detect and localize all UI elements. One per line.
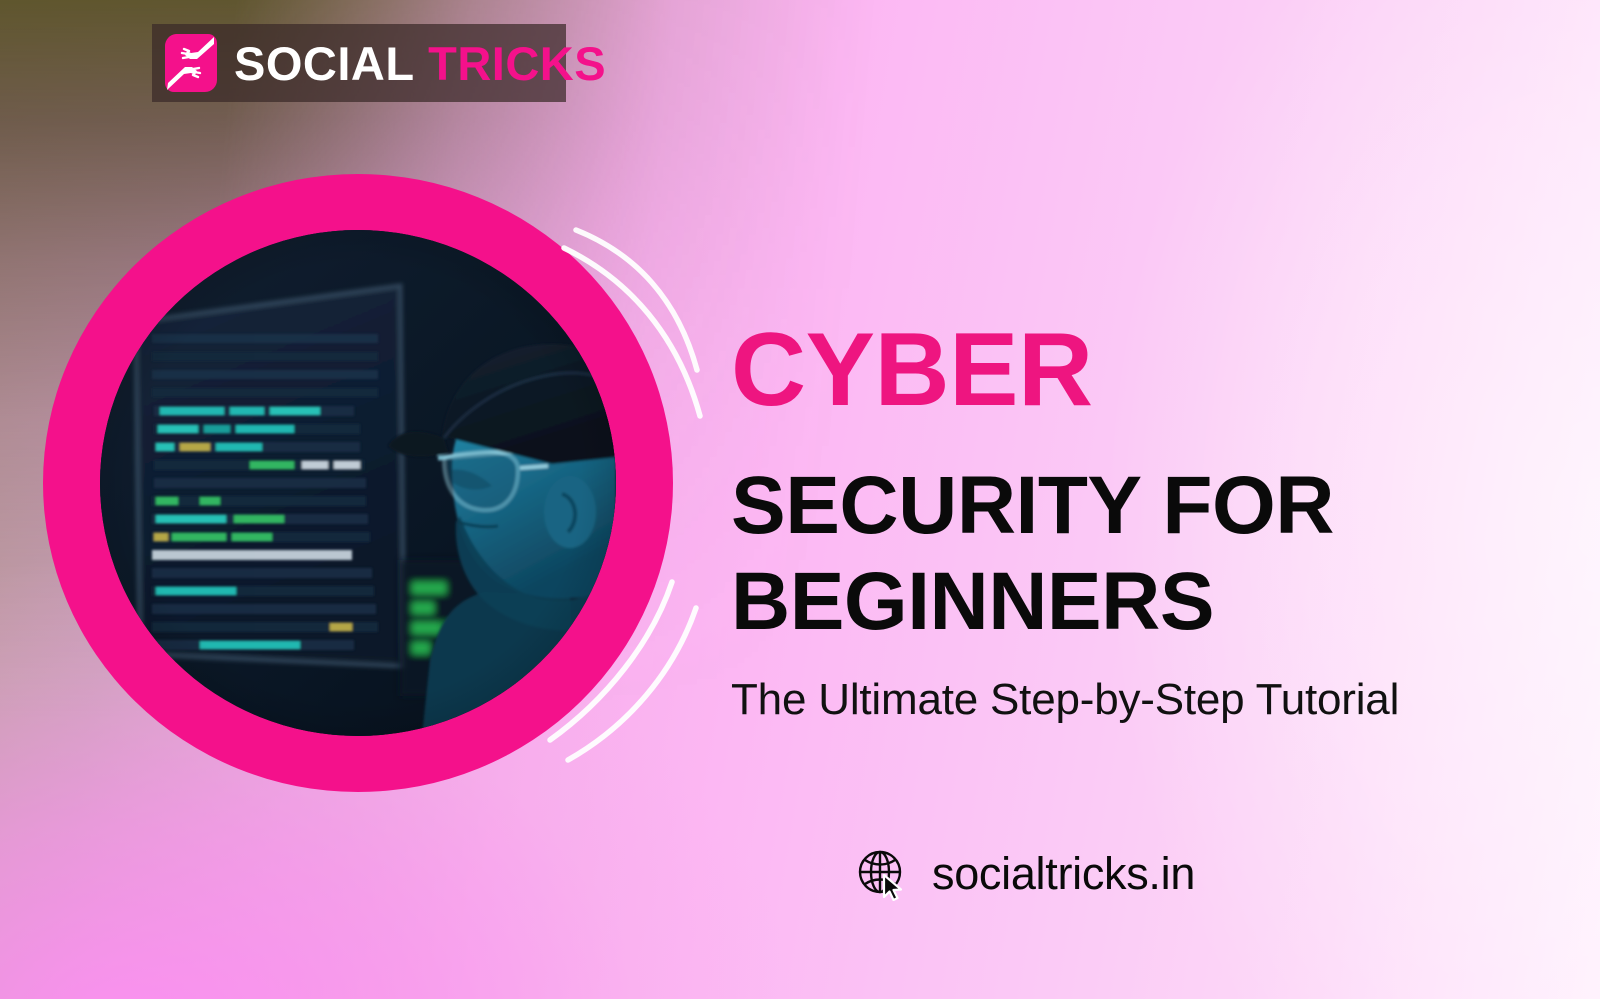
website-footer[interactable]: socialtricks.in: [854, 845, 1195, 901]
headline-line-1: SECURITY FOR: [731, 460, 1531, 552]
hero-circle: [43, 174, 673, 792]
hacker-at-monitor-photo: [100, 230, 616, 736]
brand-logo-badge[interactable]: SOCIAL TRICKS: [152, 24, 566, 102]
headline-block: CYBER SECURITY FOR BEGINNERS The Ultimat…: [731, 318, 1531, 726]
brand-word-social: SOCIAL: [234, 37, 415, 90]
headline-eyebrow: CYBER: [731, 318, 1531, 422]
headline-subtitle: The Ultimate Step-by-Step Tutorial: [731, 674, 1531, 727]
website-url-text: socialtricks.in: [932, 851, 1195, 896]
poster-canvas: SOCIAL TRICKS: [0, 0, 1600, 999]
helping-hands-icon: [164, 32, 218, 94]
brand-wordmark: SOCIAL TRICKS: [234, 40, 606, 87]
headline-line-2: BEGINNERS: [731, 556, 1531, 648]
brand-word-tricks: TRICKS: [428, 37, 606, 90]
globe-cursor-icon: [854, 845, 910, 901]
